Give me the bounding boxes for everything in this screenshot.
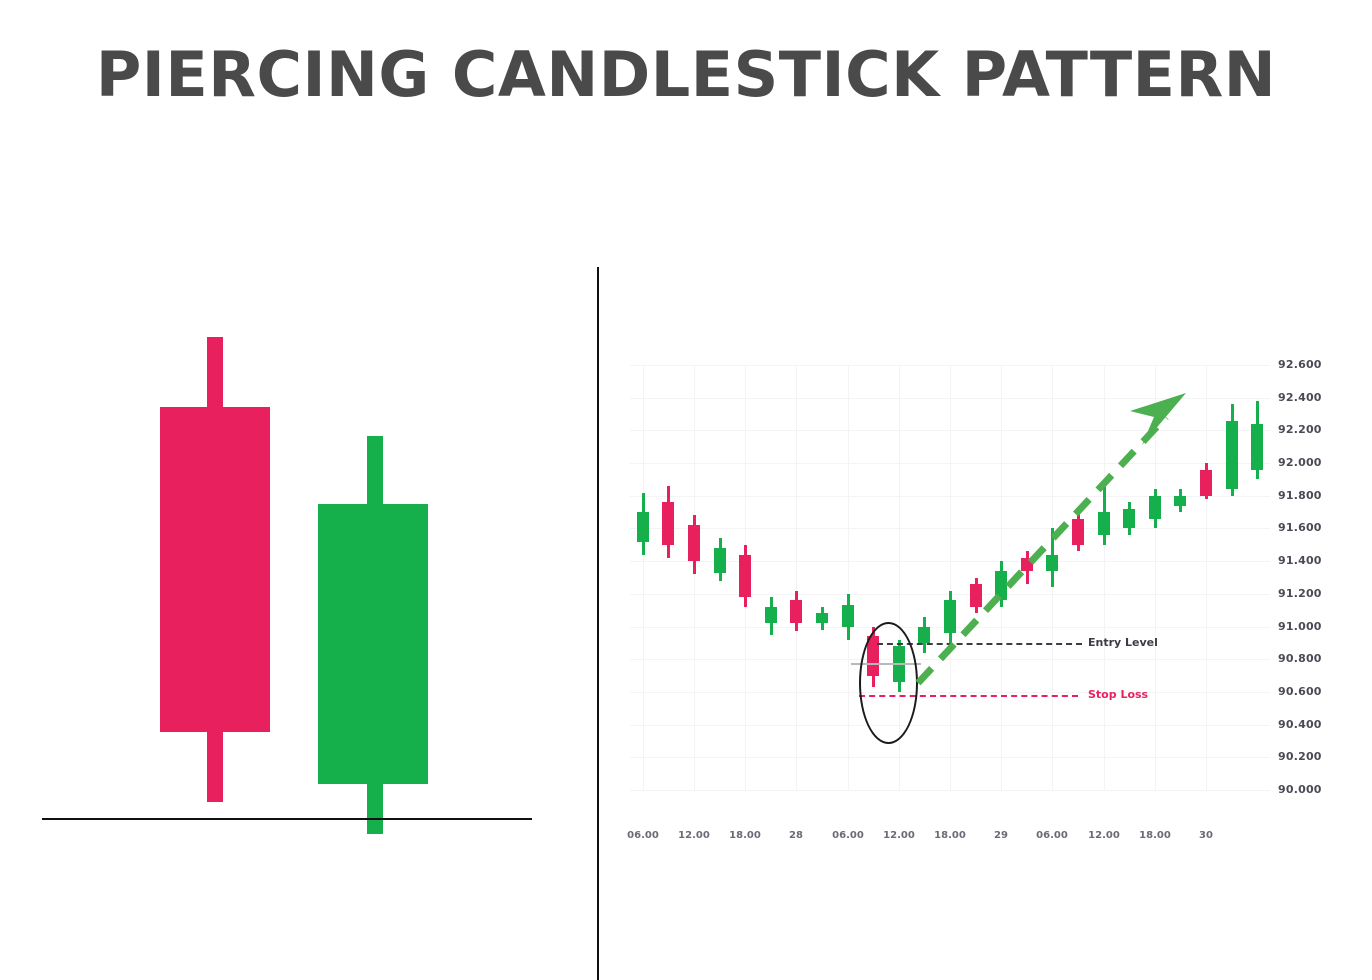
y-axis-tick: 92.000 bbox=[1278, 456, 1322, 469]
entry-level-label: Entry Level bbox=[1088, 636, 1158, 649]
bearish-lower-wick bbox=[207, 732, 223, 802]
trend-arrow-icon bbox=[630, 365, 1270, 790]
x-axis-tick: 06.00 bbox=[627, 830, 659, 841]
bearish-body bbox=[160, 407, 270, 732]
y-axis-tick: 92.200 bbox=[1278, 423, 1322, 436]
y-axis-tick: 91.200 bbox=[1278, 587, 1322, 600]
x-axis-tick: 06.00 bbox=[832, 830, 864, 841]
x-axis-tick: 30 bbox=[1199, 830, 1213, 841]
x-axis-tick: 12.00 bbox=[883, 830, 915, 841]
y-axis-tick: 90.600 bbox=[1278, 685, 1322, 698]
x-axis-tick: 18.00 bbox=[1139, 830, 1171, 841]
illustration-midpoint-line bbox=[42, 818, 532, 820]
y-axis-tick: 90.000 bbox=[1278, 783, 1322, 796]
bearish-upper-wick bbox=[207, 337, 223, 407]
y-axis-tick: 91.800 bbox=[1278, 489, 1322, 502]
x-axis-tick: 06.00 bbox=[1036, 830, 1068, 841]
x-axis-tick: 18.00 bbox=[934, 830, 966, 841]
piercing-pattern-illustration bbox=[0, 250, 598, 910]
bullish-body bbox=[318, 504, 428, 784]
y-axis-tick: 90.400 bbox=[1278, 718, 1322, 731]
candlestick-chart: 92.60092.40092.20092.00091.80091.60091.4… bbox=[598, 250, 1372, 980]
y-axis-tick: 92.400 bbox=[1278, 391, 1322, 404]
x-axis-tick: 12.00 bbox=[1088, 830, 1120, 841]
y-axis-tick: 91.000 bbox=[1278, 620, 1322, 633]
bullish-lower-wick bbox=[367, 784, 383, 834]
gridline-horizontal bbox=[630, 790, 1270, 791]
y-axis-tick: 91.400 bbox=[1278, 554, 1322, 567]
y-axis-tick: 90.200 bbox=[1278, 750, 1322, 763]
bullish-upper-wick bbox=[367, 436, 383, 504]
y-axis-tick: 90.800 bbox=[1278, 652, 1322, 665]
page-title: PIERCING CANDLESTICK PATTERN bbox=[0, 38, 1372, 111]
x-axis-tick: 12.00 bbox=[678, 830, 710, 841]
stop-loss-label: Stop Loss bbox=[1088, 688, 1148, 701]
x-axis-tick: 28 bbox=[789, 830, 803, 841]
x-axis-tick: 18.00 bbox=[729, 830, 761, 841]
y-axis-tick: 92.600 bbox=[1278, 358, 1322, 371]
x-axis-tick: 29 bbox=[994, 830, 1008, 841]
chart-plot-area bbox=[630, 365, 1270, 790]
y-axis-tick: 91.600 bbox=[1278, 521, 1322, 534]
